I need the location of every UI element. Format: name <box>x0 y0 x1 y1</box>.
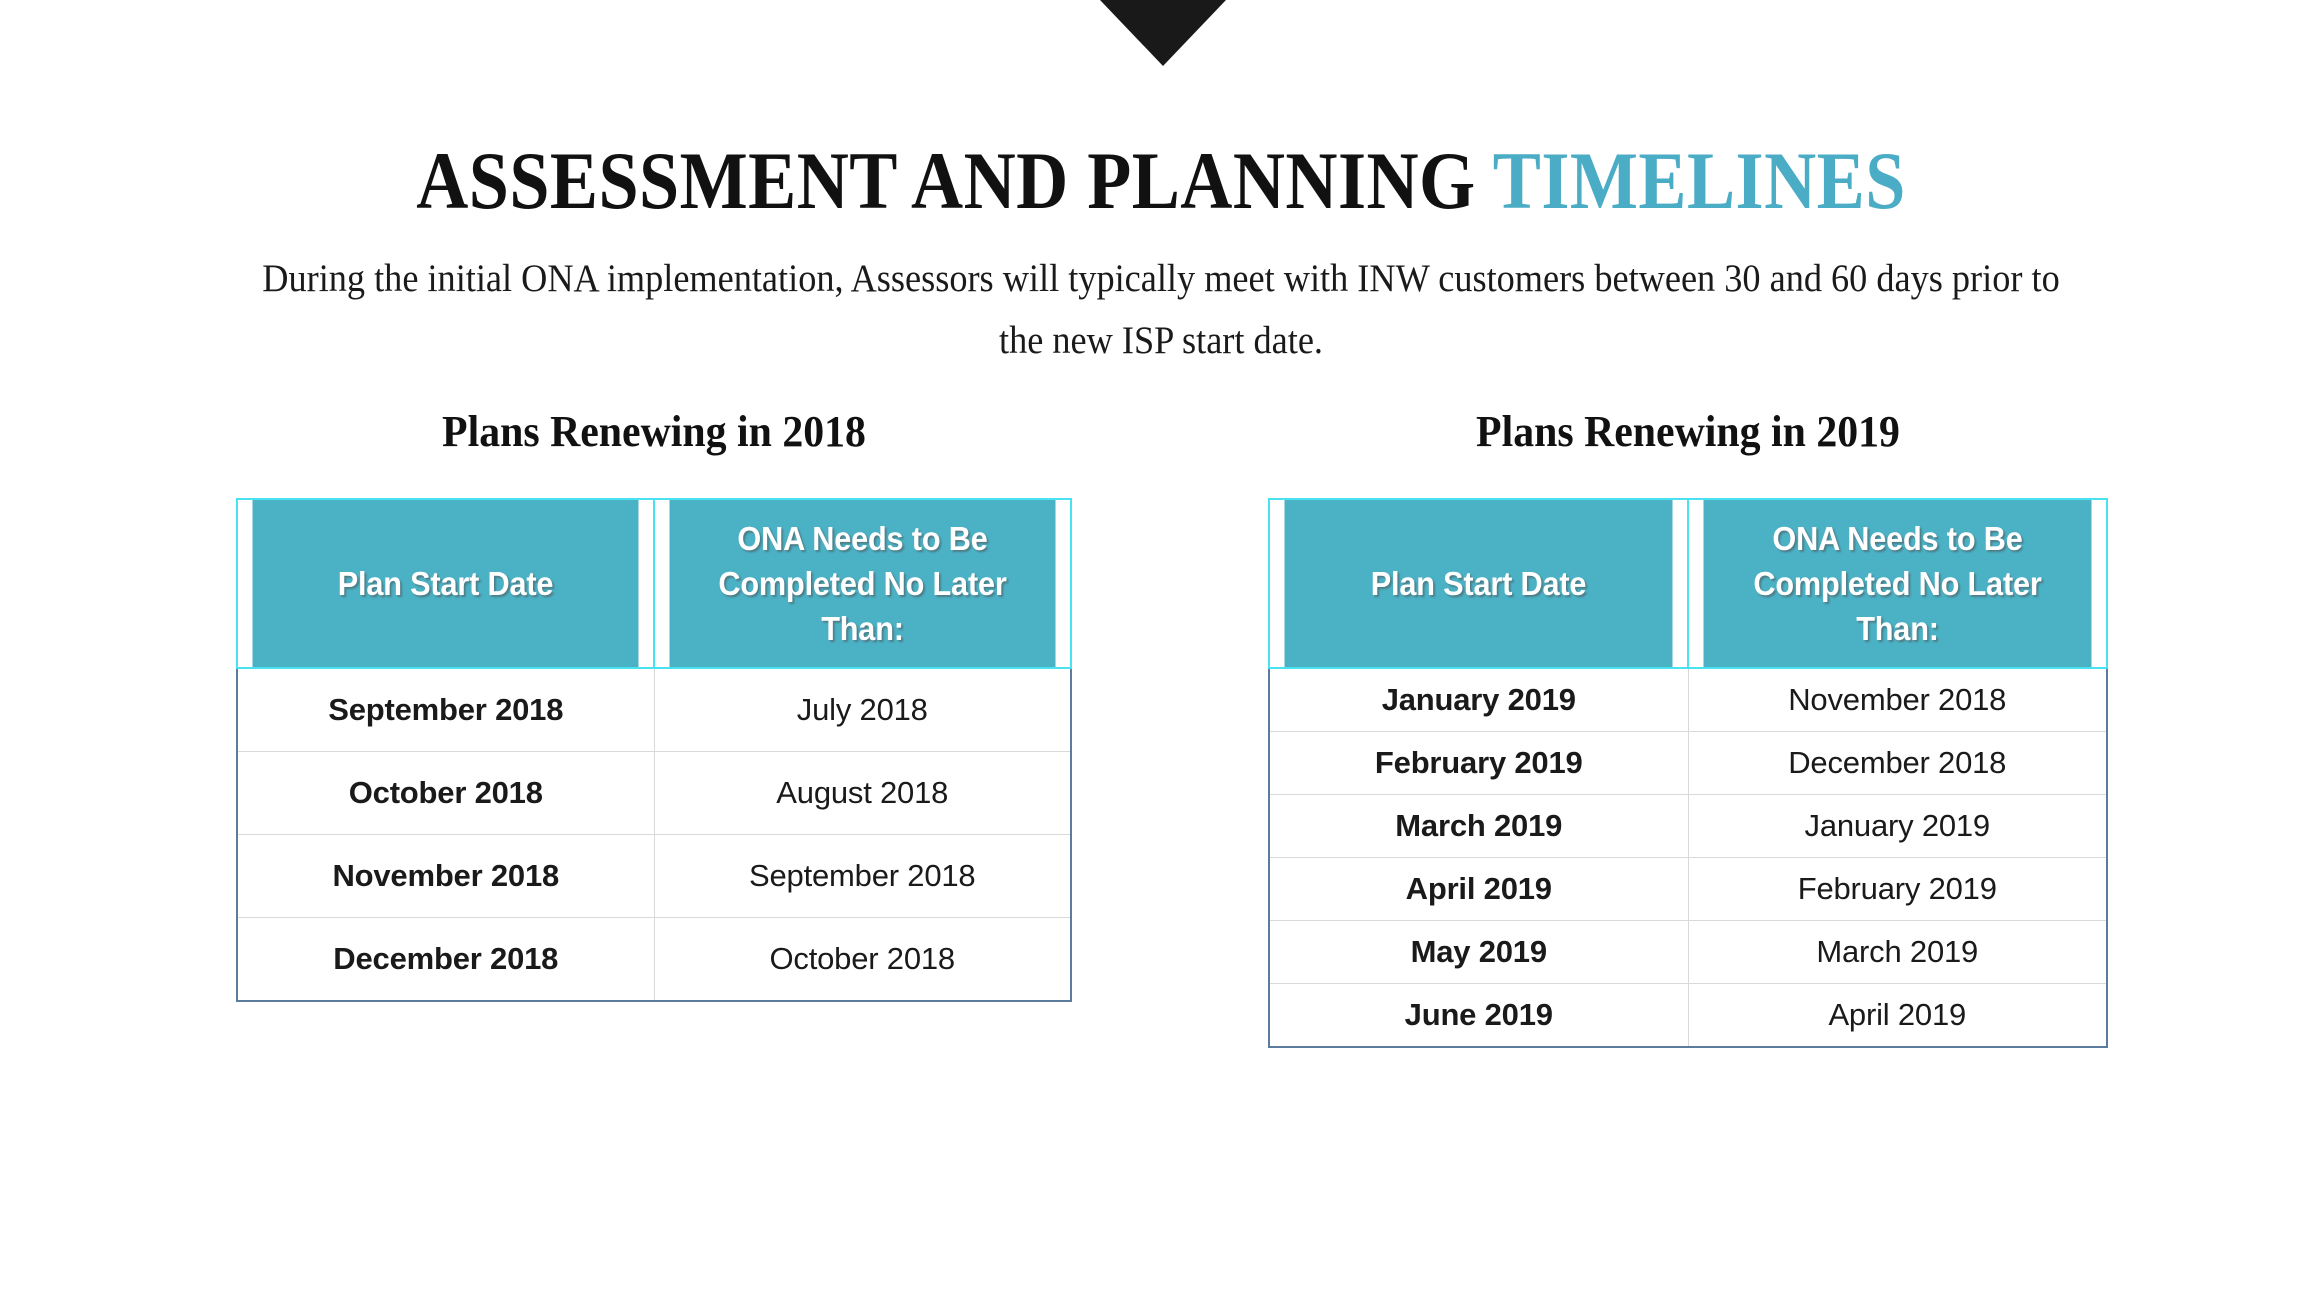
table-row: February 2019 December 2018 <box>1269 732 2107 795</box>
table-row: June 2019 April 2019 <box>1269 984 2107 1048</box>
table-row: January 2019 November 2018 <box>1269 668 2107 732</box>
cell-ona-deadline: September 2018 <box>654 835 1071 918</box>
cell-ona-deadline: November 2018 <box>1688 668 2107 732</box>
table-row: December 2018 October 2018 <box>237 918 1071 1002</box>
section-title-2019: Plans Renewing in 2019 <box>1289 406 2087 458</box>
cell-ona-deadline: April 2019 <box>1688 984 2107 1048</box>
table-header-row: Plan Start Date ONA Needs to Be Complete… <box>1269 499 2107 668</box>
cell-ona-deadline: March 2019 <box>1688 921 2107 984</box>
cell-plan-start-date: January 2019 <box>1269 668 1688 732</box>
page-title: ASSESSMENT AND PLANNING TIMELINES <box>139 138 2182 224</box>
column-header-ona-deadline: ONA Needs to Be Completed No Later Than: <box>1703 499 2093 668</box>
triangle-down-icon <box>1100 0 1226 66</box>
cell-plan-start-date: November 2018 <box>237 835 654 918</box>
column-header-plan-start-date: Plan Start Date <box>252 499 640 668</box>
cell-ona-deadline: February 2019 <box>1688 858 2107 921</box>
page-subtitle: During the initial ONA implementation, A… <box>259 248 2063 372</box>
section-title-2018: Plans Renewing in 2018 <box>257 406 1051 458</box>
table-row: May 2019 March 2019 <box>1269 921 2107 984</box>
table-row: October 2018 August 2018 <box>237 752 1071 835</box>
cell-plan-start-date: June 2019 <box>1269 984 1688 1048</box>
cell-ona-deadline: August 2018 <box>654 752 1071 835</box>
cell-plan-start-date: September 2018 <box>237 668 654 752</box>
table-block-2019: Plans Renewing in 2019 Plan Start Date O… <box>1268 406 2108 1048</box>
timeline-table-2018: Plan Start Date ONA Needs to Be Complete… <box>236 498 1072 1002</box>
column-header-ona-deadline: ONA Needs to Be Completed No Later Than: <box>669 499 1057 668</box>
cell-plan-start-date: October 2018 <box>237 752 654 835</box>
cell-ona-deadline: December 2018 <box>1688 732 2107 795</box>
triangle-down-shape <box>1100 0 1226 66</box>
table-row: April 2019 February 2019 <box>1269 858 2107 921</box>
cell-ona-deadline: January 2019 <box>1688 795 2107 858</box>
cell-ona-deadline: October 2018 <box>654 918 1071 1002</box>
table-row: March 2019 January 2019 <box>1269 795 2107 858</box>
timeline-table-2019: Plan Start Date ONA Needs to Be Complete… <box>1268 498 2108 1048</box>
cell-plan-start-date: May 2019 <box>1269 921 1688 984</box>
column-header-plan-start-date: Plan Start Date <box>1284 499 1674 668</box>
cell-plan-start-date: March 2019 <box>1269 795 1688 858</box>
cell-plan-start-date: April 2019 <box>1269 858 1688 921</box>
table-header-row: Plan Start Date ONA Needs to Be Complete… <box>237 499 1071 668</box>
page-title-accent: TIMELINES <box>1493 135 1906 226</box>
table-row: September 2018 July 2018 <box>237 668 1071 752</box>
cell-plan-start-date: February 2019 <box>1269 732 1688 795</box>
cell-plan-start-date: December 2018 <box>237 918 654 1002</box>
page-title-main: ASSESSMENT AND PLANNING <box>416 135 1475 226</box>
cell-ona-deadline: July 2018 <box>654 668 1071 752</box>
table-block-2018: Plans Renewing in 2018 Plan Start Date O… <box>236 406 1072 1002</box>
table-row: November 2018 September 2018 <box>237 835 1071 918</box>
